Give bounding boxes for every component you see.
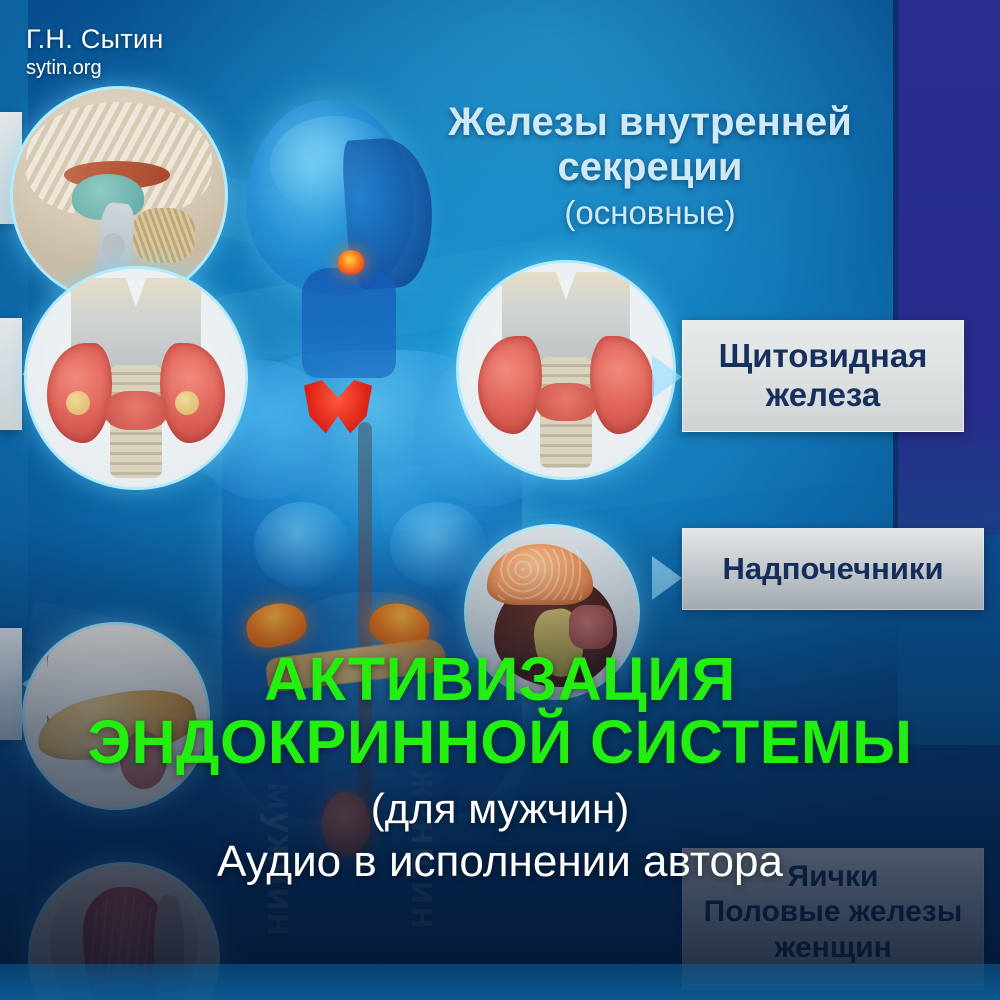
promo-audio-note: Аудио в исполнении автора bbox=[0, 837, 1000, 887]
page-title-line2: секреции bbox=[410, 145, 890, 190]
pointer-thyroid-icon bbox=[652, 355, 682, 399]
thyroid-isthmus bbox=[105, 391, 166, 430]
label-box-partial-mid-left[interactable] bbox=[0, 318, 22, 430]
site-url[interactable]: sytin.org bbox=[26, 57, 164, 80]
page-title-line3: (основные) bbox=[410, 194, 890, 232]
poster-canvas: мужчин женщин bbox=[0, 0, 1000, 1000]
thyroid-lobe-right bbox=[590, 336, 654, 434]
figure-thyroid-circle-left[interactable] bbox=[24, 266, 248, 490]
brand-block: Г.Н. Сытин sytin.org bbox=[26, 24, 164, 80]
cerebellum bbox=[132, 208, 196, 263]
page-title-line1: Железы внутренней bbox=[410, 100, 890, 145]
right-indigo-panel bbox=[898, 0, 1000, 535]
figure-thyroid-circle-right[interactable] bbox=[456, 260, 676, 480]
promo-overlay: АКТИВИЗАЦИЯ ЭНДОКРИННОЙ СИСТЕМЫ (для муж… bbox=[0, 648, 1000, 887]
promo-title-line2: ЭНДОКРИННОЙ СИСТЕМЫ bbox=[0, 711, 1000, 774]
author-name: Г.Н. Сытин bbox=[26, 24, 164, 55]
pituitary-gland bbox=[102, 233, 125, 258]
thyroid-lobe-left bbox=[478, 336, 542, 434]
thyroid-isthmus bbox=[536, 383, 596, 422]
pituitary-gland-highlight bbox=[338, 250, 364, 274]
background-bottom-strip bbox=[0, 964, 1000, 1000]
label-thyroid[interactable]: Щитовидная железа bbox=[682, 320, 964, 432]
label-thyroid-line1: Щитовидная bbox=[719, 337, 928, 376]
page-title: Железы внутренней секреции (основные) bbox=[410, 100, 890, 232]
promo-title-line1: АКТИВИЗАЦИЯ bbox=[0, 648, 1000, 711]
promo-audience: (для мужчин) bbox=[0, 785, 1000, 833]
label-thyroid-line2: железа bbox=[719, 376, 928, 415]
figure-neck bbox=[302, 268, 396, 378]
